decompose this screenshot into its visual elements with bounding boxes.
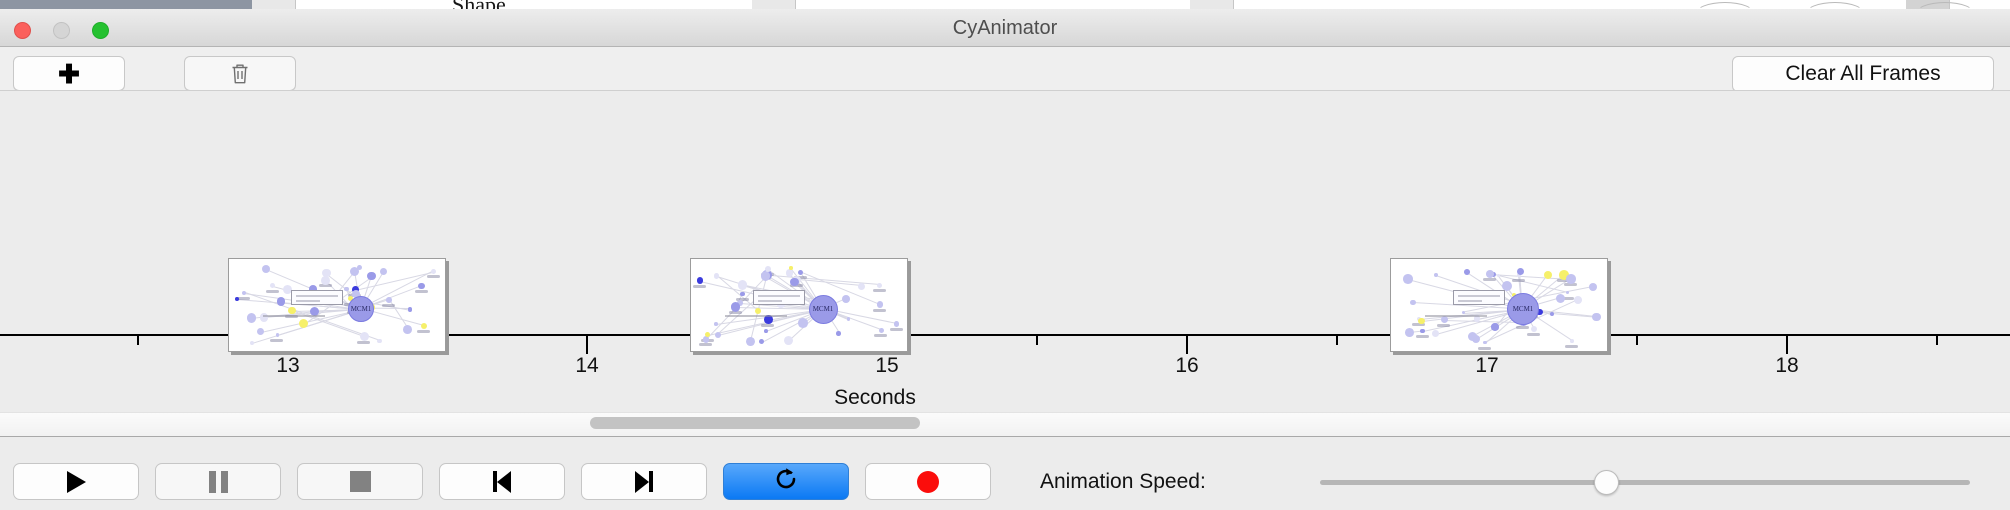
- network-node: [418, 283, 424, 289]
- network-node: [377, 339, 382, 344]
- prev-frame-button[interactable]: [439, 463, 565, 500]
- network-node-label: [761, 324, 774, 327]
- network-node: [697, 277, 703, 283]
- animation-speed-slider-knob[interactable]: [1594, 470, 1619, 495]
- network-node-label: [237, 297, 250, 300]
- network-hub-node: MCM1: [1507, 293, 1539, 325]
- trash-icon: [230, 62, 250, 85]
- stop-button[interactable]: [297, 463, 423, 500]
- network-node-label: [427, 275, 440, 278]
- network-node: [408, 307, 412, 311]
- axis-tick-label: 18: [1775, 354, 1798, 378]
- maximize-window-button[interactable]: [92, 22, 109, 39]
- timeline-axis-caption: Seconds: [0, 386, 2010, 410]
- window-title: CyAnimator: [0, 9, 2010, 47]
- skip-backward-icon: [493, 471, 511, 493]
- network-node: [877, 283, 882, 288]
- network-node-label: [1527, 333, 1540, 336]
- axis-tick-major: [1186, 336, 1188, 354]
- network-node-label: [1512, 279, 1525, 282]
- network-node: [715, 332, 721, 338]
- loop-button[interactable]: [723, 463, 849, 500]
- network-node: [847, 317, 851, 321]
- horizontal-scrollbar-thumb[interactable]: [590, 417, 920, 429]
- network-node-label: [1437, 324, 1450, 327]
- network-node: [761, 271, 770, 280]
- keyframe-thumbnail[interactable]: MCM1: [690, 258, 908, 352]
- animation-speed-slider-track[interactable]: [1320, 480, 1970, 485]
- network-node-label: [1565, 345, 1578, 348]
- delete-frame-button[interactable]: [184, 56, 296, 91]
- network-node: [1550, 312, 1554, 316]
- network-node: [877, 301, 884, 308]
- loop-icon: [773, 466, 799, 497]
- network-node: [386, 297, 392, 303]
- network-node: [242, 291, 246, 295]
- network-node: [1574, 296, 1582, 304]
- add-frame-button[interactable]: ✚: [13, 56, 125, 91]
- network-node-label: [266, 290, 279, 293]
- network-node: [740, 292, 744, 296]
- network-node: [344, 287, 348, 291]
- network-node: [1556, 294, 1565, 303]
- network-node: [1432, 330, 1439, 337]
- network-node: [784, 336, 793, 345]
- network-node: [1468, 332, 1477, 341]
- axis-tick-major: [586, 336, 588, 354]
- clear-all-frames-button[interactable]: Clear All Frames: [1732, 56, 1994, 92]
- network-node: [360, 332, 369, 341]
- network-node: [257, 328, 264, 335]
- axis-tick-minor: [1636, 336, 1638, 345]
- network-node: [1517, 268, 1524, 275]
- network-node-label: [1483, 278, 1496, 281]
- network-node: [367, 272, 376, 281]
- horizontal-scrollbar-track[interactable]: [0, 412, 2010, 436]
- network-hub-node: MCM1: [348, 296, 374, 322]
- network-hub-node: MCM1: [809, 295, 838, 324]
- play-icon: [67, 471, 86, 493]
- axis-tick-label: 16: [1175, 354, 1198, 378]
- network-node: [421, 323, 428, 330]
- network-annotation-callout: [1453, 290, 1505, 305]
- network-node: [1434, 273, 1438, 277]
- network-node: [1420, 329, 1424, 333]
- animation-speed-label: Animation Speed:: [1040, 463, 1206, 500]
- network-node: [714, 273, 719, 278]
- network-node-label: [1516, 326, 1529, 329]
- network-node: [1592, 313, 1601, 322]
- axis-tick-minor: [137, 336, 139, 345]
- network-node: [1589, 283, 1597, 291]
- axis-tick-minor: [1036, 336, 1038, 345]
- network-node: [1570, 339, 1574, 343]
- network-node: [738, 280, 747, 289]
- network-node: [235, 297, 239, 301]
- network-node: [403, 325, 412, 334]
- network-node: [1405, 328, 1414, 337]
- network-node: [277, 297, 285, 305]
- network-node-label: [357, 341, 370, 344]
- network-node-label: [873, 309, 886, 312]
- network-node: [247, 313, 256, 322]
- cyanimator-window: Shape CyAnimator ✚ Clear All Frames 2131…: [0, 0, 2010, 510]
- network-node: [276, 333, 279, 336]
- keyframe-thumbnail[interactable]: MCM1: [1390, 258, 1608, 352]
- network-node-label: [693, 285, 706, 288]
- network-annotation-text: [263, 315, 325, 317]
- axis-tick-minor: [1336, 336, 1338, 345]
- pause-icon: [209, 471, 228, 493]
- axis-tick-label: 14: [575, 354, 598, 378]
- network-node: [842, 295, 850, 303]
- toolbar: [0, 47, 2010, 90]
- network-node: [321, 276, 330, 285]
- network-node: [350, 267, 359, 276]
- network-node: [1486, 270, 1494, 278]
- network-node-label: [415, 290, 428, 293]
- network-node: [798, 318, 808, 328]
- network-node: [1491, 323, 1498, 330]
- network-node: [764, 329, 768, 333]
- axis-tick-label: 17: [1475, 354, 1498, 378]
- timeline-panel[interactable]: 2131415161718 Seconds MCM1MCM1MCM1: [0, 90, 2010, 412]
- network-node: [879, 328, 884, 333]
- network-node-label: [417, 330, 430, 333]
- axis-tick-label: 13: [276, 354, 299, 378]
- network-node: [789, 266, 793, 270]
- play-button[interactable]: [13, 463, 139, 500]
- network-node: [755, 308, 761, 314]
- network-node: [1483, 341, 1487, 345]
- skip-forward-icon: [635, 471, 653, 493]
- plus-icon: ✚: [58, 61, 80, 87]
- record-button[interactable]: [865, 463, 991, 500]
- network-node: [1531, 326, 1537, 332]
- network-node: [1403, 274, 1413, 284]
- network-annotation-text: [1425, 315, 1487, 317]
- network-node-label: [270, 339, 283, 342]
- network-node: [836, 331, 841, 336]
- network-node-label: [1478, 347, 1491, 350]
- network-node-label: [382, 304, 395, 307]
- network-node: [1441, 316, 1448, 323]
- network-node: [858, 283, 865, 290]
- network-node: [746, 337, 755, 346]
- network-node: [262, 265, 270, 273]
- record-icon: [917, 471, 939, 493]
- axis-tick-label: 15: [875, 354, 898, 378]
- network-annotation-text: [725, 315, 787, 317]
- network-node-label: [319, 284, 332, 287]
- network-node-label: [699, 343, 712, 346]
- clear-all-frames-label: Clear All Frames: [1785, 62, 1940, 86]
- network-node: [431, 269, 437, 275]
- host-app-titlebar-strip: [0, 0, 252, 9]
- pause-button[interactable]: [155, 463, 281, 500]
- network-node-label: [1416, 335, 1429, 338]
- network-node-label: [873, 289, 886, 292]
- axis-tick-minor: [1936, 336, 1938, 345]
- network-node: [759, 339, 764, 344]
- next-frame-button[interactable]: [581, 463, 707, 500]
- stop-icon: [350, 471, 371, 492]
- network-node: [714, 322, 718, 326]
- network-annotation-callout: [291, 290, 343, 305]
- network-node: [1566, 291, 1569, 294]
- network-node-label: [874, 334, 887, 337]
- network-node-label: [890, 328, 903, 331]
- axis-tick-major: [1786, 336, 1788, 354]
- network-node: [288, 307, 295, 314]
- close-window-button[interactable]: [14, 22, 31, 39]
- network-node: [1410, 300, 1416, 306]
- keyframe-thumbnail[interactable]: MCM1: [228, 258, 446, 352]
- network-node: [1566, 274, 1576, 284]
- network-node: [250, 341, 254, 345]
- network-node: [894, 321, 900, 327]
- network-annotation-callout: [753, 290, 805, 305]
- network-node: [380, 268, 387, 275]
- minimize-window-button[interactable]: [53, 22, 70, 39]
